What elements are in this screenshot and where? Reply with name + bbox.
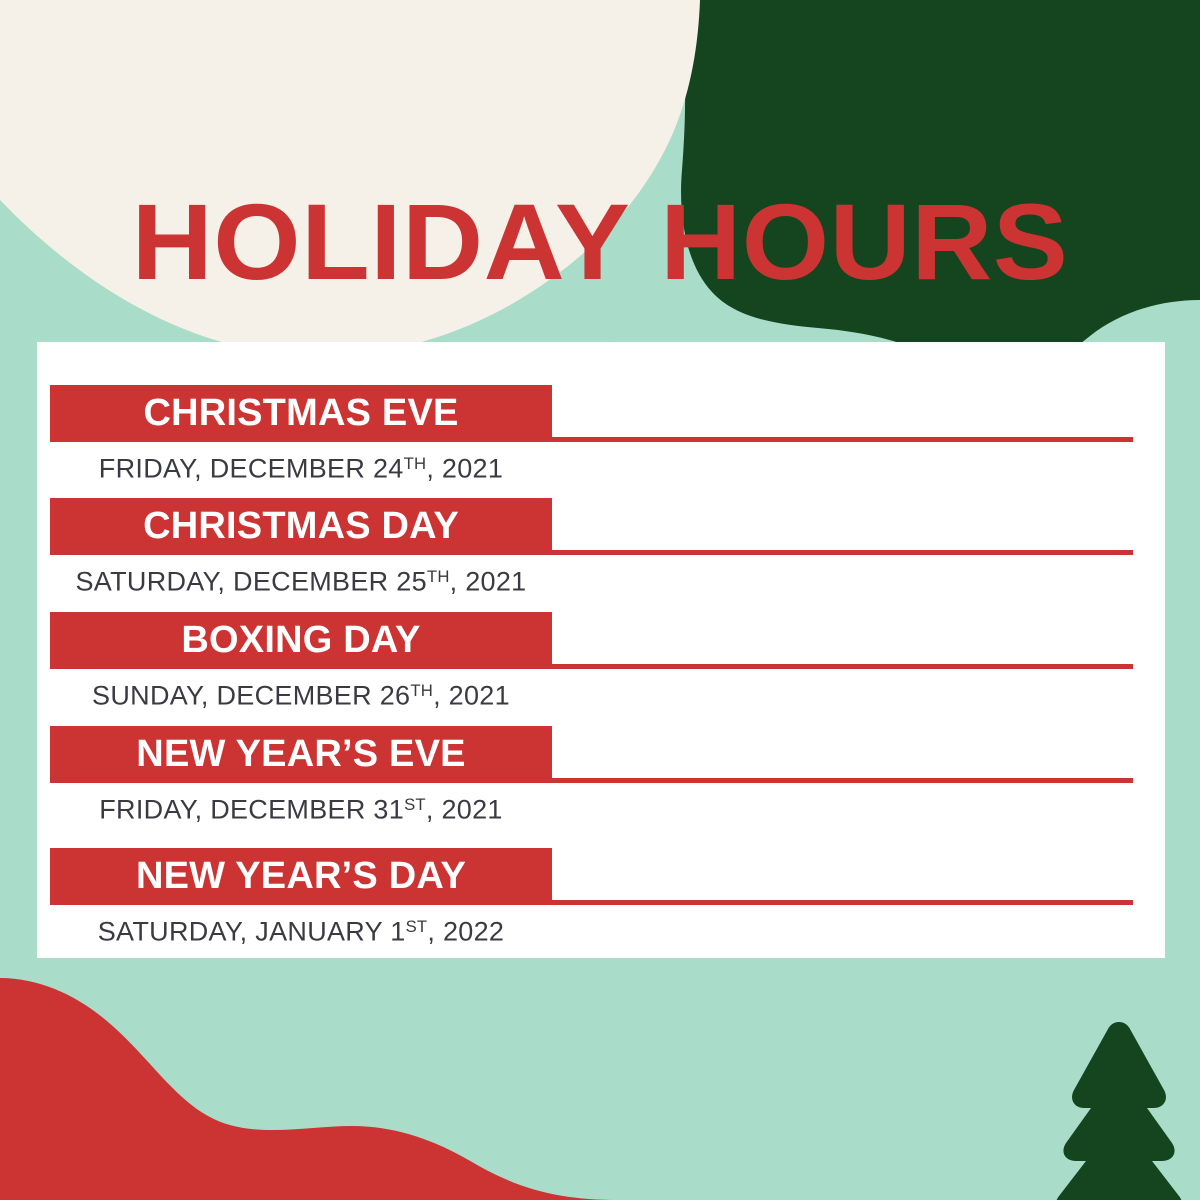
holiday-date-label: FRIDAY, DECEMBER 31ST, 2021 xyxy=(50,788,552,827)
date-ordinal: TH xyxy=(427,567,450,586)
holiday-name-label: NEW YEAR’S EVE xyxy=(136,734,465,774)
date-ordinal: TH xyxy=(410,681,433,700)
holiday-name-label: NEW YEAR’S DAY xyxy=(136,856,466,896)
date-ordinal: ST xyxy=(404,795,426,814)
holiday-name-label: CHRISTMAS DAY xyxy=(143,506,459,546)
holiday-name-chip: CHRISTMAS EVE xyxy=(50,385,552,441)
holiday-name-chip: NEW YEAR’S EVE xyxy=(50,726,552,782)
holiday-date-label: SATURDAY, DECEMBER 25TH, 2021 xyxy=(50,560,552,599)
holiday-date-label: SUNDAY, DECEMBER 26TH, 2021 xyxy=(50,674,552,713)
holiday-date-label: FRIDAY, DECEMBER 24TH, 2021 xyxy=(50,447,552,486)
schedule-row: NEW YEAR’S DAY SATURDAY, JANUARY 1ST, 20… xyxy=(37,848,1165,962)
date-suffix: , 2021 xyxy=(426,795,503,825)
date-prefix: FRIDAY, DECEMBER 31 xyxy=(99,795,404,825)
date-prefix: SUNDAY, DECEMBER 26 xyxy=(92,681,410,711)
date-ordinal: ST xyxy=(406,917,428,936)
holiday-name-chip: BOXING DAY xyxy=(50,612,552,668)
holiday-name-chip: CHRISTMAS DAY xyxy=(50,498,552,554)
date-suffix: , 2021 xyxy=(433,681,510,711)
date-suffix: , 2021 xyxy=(426,454,503,484)
schedule-row: NEW YEAR’S EVE FRIDAY, DECEMBER 31ST, 20… xyxy=(37,726,1165,840)
holiday-name-chip: NEW YEAR’S DAY xyxy=(50,848,552,904)
schedule-row: CHRISTMAS DAY SATURDAY, DECEMBER 25TH, 2… xyxy=(37,498,1165,612)
date-prefix: SATURDAY, DECEMBER 25 xyxy=(76,567,427,597)
date-prefix: FRIDAY, DECEMBER 24 xyxy=(99,454,404,484)
holiday-date-label: SATURDAY, JANUARY 1ST, 2022 xyxy=(50,910,552,949)
schedule-row: CHRISTMAS EVE FRIDAY, DECEMBER 24TH, 202… xyxy=(37,385,1165,499)
holiday-hours-poster: HOLIDAY HOURS CHRISTMAS EVE FRIDAY, DECE… xyxy=(0,0,1200,1200)
date-suffix: , 2021 xyxy=(450,567,527,597)
holiday-name-label: BOXING DAY xyxy=(181,620,420,660)
date-prefix: SATURDAY, JANUARY 1 xyxy=(98,917,406,947)
page-title: HOLIDAY HOURS xyxy=(0,186,1200,298)
schedule-card: CHRISTMAS EVE FRIDAY, DECEMBER 24TH, 202… xyxy=(37,342,1165,958)
date-suffix: , 2022 xyxy=(427,917,504,947)
holiday-name-label: CHRISTMAS EVE xyxy=(143,393,458,433)
schedule-row: BOXING DAY SUNDAY, DECEMBER 26TH, 2021 xyxy=(37,612,1165,726)
date-ordinal: TH xyxy=(404,454,427,473)
